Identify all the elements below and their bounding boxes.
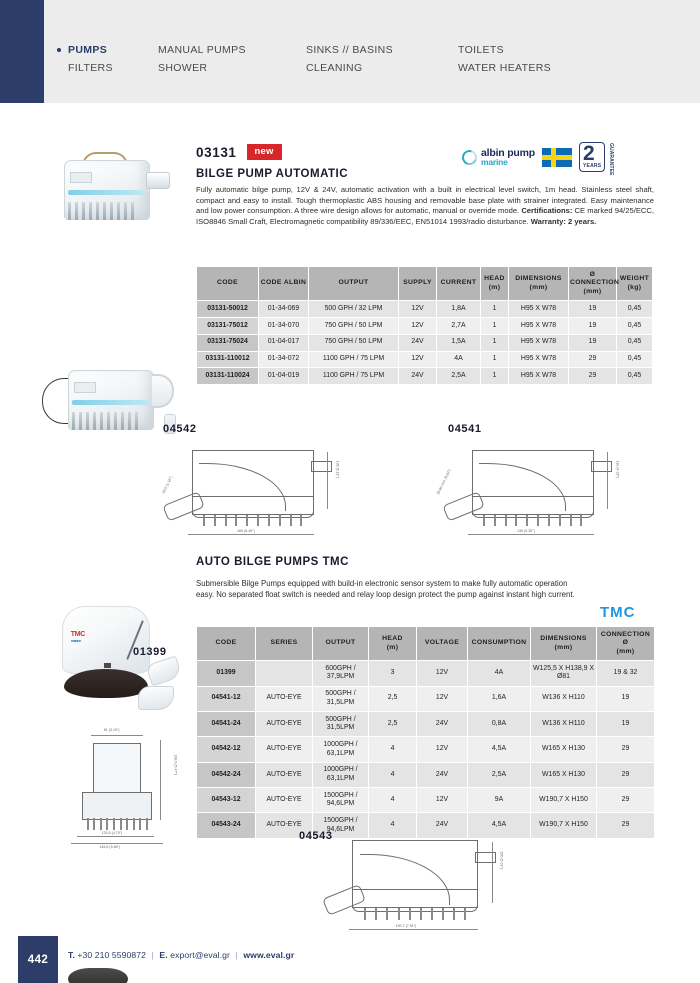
table-row: 03131-50012 01-34-069 500 GPH / 32 LPM 1…: [197, 301, 653, 318]
cell-head: 4: [369, 788, 417, 813]
drawing-width-label: 190,7 (7.51"): [396, 924, 417, 928]
drawing-outlet-spout: [475, 852, 497, 864]
cell-output: 1500GPH / 94,6LPM: [313, 788, 369, 813]
cell-head: 2,5: [369, 711, 417, 736]
nav-item-label: WATER HEATERS: [458, 62, 551, 74]
certifications-label: Certifications:: [521, 206, 572, 215]
col-head: HEAD(m): [369, 627, 417, 661]
cell-series: AUTO-EYE: [256, 711, 313, 736]
drawing-outlet-spout: [591, 461, 612, 472]
cell-supply: 12V: [399, 301, 437, 318]
pump-blue-stripe: [72, 400, 150, 405]
active-bullet-icon: [57, 48, 61, 52]
col-head: HEAD(m): [481, 267, 509, 301]
cell-dimensions: H95 X W78: [509, 334, 569, 351]
cell-dimensions: W190,7 X H150: [531, 788, 597, 813]
albin-logo-line2: marine: [481, 158, 535, 166]
col-weight: WEIGHT(kg): [617, 267, 653, 301]
cell-code: 04543-24: [197, 813, 256, 838]
nav-item-sinks-basins[interactable]: SINKS // BASINS: [306, 44, 458, 57]
cell-output: 750 GPH / 50 LPM: [309, 334, 399, 351]
top-navigation-bar: PUMPS FILTERS MANUAL PUMPS SHOWER SINKS …: [0, 0, 700, 103]
cell-output: 1000GPH / 63,1LPM: [313, 737, 369, 762]
table-row: 03131-110012 01-34-072 1100 GPH / 75 LPM…: [197, 351, 653, 368]
sweden-flag-icon: [542, 148, 572, 167]
cell-voltage: 12V: [417, 661, 468, 686]
cell-head: 4: [369, 762, 417, 787]
col-dimensions: DIMENSIONS(mm): [531, 627, 597, 661]
cell-code: 04543-12: [197, 788, 256, 813]
cell-voltage: 24V: [417, 711, 468, 736]
cell-series: AUTO-EYE: [256, 762, 313, 787]
nav-item-label: SINKS // BASINS: [306, 44, 393, 56]
guarantee-side-text-wrap: GUARANTEE: [606, 142, 616, 172]
cell-current: 1,8A: [437, 301, 481, 318]
cell-supply: 24V: [399, 334, 437, 351]
nav-column-2: MANUAL PUMPS SHOWER: [158, 44, 306, 84]
phone-label: T.: [68, 950, 75, 960]
cell-code: 04542-12: [197, 737, 256, 762]
drawing-width-dimension-line: [188, 534, 314, 535]
product-description: Fully automatic bilge pump, 12V & 24V, a…: [196, 185, 654, 227]
drawing-inlet-label: 20,95 mm (0.82"): [436, 468, 452, 495]
cell-connection: 29: [597, 737, 655, 762]
pump-elbow-fitting: [152, 374, 174, 408]
email-label: E.: [159, 950, 167, 960]
drawing-width-label: 125,5 (4.75"): [102, 831, 123, 835]
pump-label: [70, 172, 92, 183]
drawing-width-dimension-line: [349, 929, 479, 930]
cell-code: 03131-50012: [197, 301, 259, 318]
cell-head: 4: [369, 737, 417, 762]
cell-output: 600GPH / 37,9LPM: [313, 661, 369, 686]
drawing-top-label: 81 (3.19"): [104, 728, 120, 732]
cell-output: 500GPH / 31,5LPM: [313, 711, 369, 736]
table-row: 03131-75024 01-04-017 750 GPH / 50 LPM 2…: [197, 334, 653, 351]
drawing-height-label: 110 (4.33"): [615, 461, 619, 478]
cell-connection: 29: [569, 368, 617, 385]
cell-dimensions: W165 X H130: [531, 762, 597, 787]
drawing-width-dimension-line: [468, 534, 594, 535]
cell-series: AUTO-EYE: [256, 686, 313, 711]
website-url[interactable]: www.eval.gr: [243, 950, 294, 960]
nav-item-label: TOILETS: [458, 44, 504, 56]
cell-head: 1: [481, 301, 509, 318]
footer-separator: |: [233, 950, 241, 960]
albin-ring-icon: [459, 147, 479, 167]
pump-base: [64, 669, 148, 698]
page-number-badge: 442: [18, 936, 58, 983]
cell-head: 1: [481, 368, 509, 385]
table-header-row: CODE CODE ALBIN OUTPUT SUPPLY CURRENT HE…: [197, 267, 653, 301]
cell-connection: 19: [597, 686, 655, 711]
cell-series: [256, 661, 313, 686]
cell-dimensions: H95 X W78: [509, 301, 569, 318]
table-row: 04541-24 AUTO-EYE 500GPH / 31,5LPM 2,5 2…: [197, 711, 655, 736]
phone-number: +30 210 5590872: [77, 950, 146, 960]
nav-item-shower[interactable]: SHOWER: [158, 62, 306, 75]
nav-item-water-heaters[interactable]: WATER HEATERS: [458, 62, 628, 75]
section-tmc-title: AUTO BILGE PUMPS TMC: [196, 556, 349, 568]
cell-head: 2,5: [369, 686, 417, 711]
product-label-04542: 04542: [163, 423, 197, 435]
drawing-height-dimension-line: [160, 740, 161, 820]
cell-connection: 19: [569, 318, 617, 335]
col-code: CODE: [197, 627, 256, 661]
col-code-albin: CODE ALBIN: [259, 267, 309, 301]
cell-weight: 0,45: [617, 351, 653, 368]
cell-code-albin: 01-34-069: [259, 301, 309, 318]
drawing-top-dimension-line: [91, 735, 144, 736]
spec-table-03131: CODE CODE ALBIN OUTPUT SUPPLY CURRENT HE…: [196, 266, 653, 385]
technical-drawing-04543: 190,7 (7.51") 150 (5.91"): [320, 832, 500, 930]
new-badge: new: [247, 144, 282, 160]
drawing-height-dimension-line: [492, 842, 493, 903]
cell-consumption: 2,5A: [468, 762, 531, 787]
flag-horizontal-bar: [542, 155, 572, 160]
nav-column-3: SINKS // BASINS CLEANING: [306, 44, 458, 84]
cell-code: 04542-24: [197, 762, 256, 787]
nav-item-label: SHOWER: [158, 62, 207, 74]
nav-column-1: PUMPS FILTERS: [68, 44, 158, 84]
catalog-page: PUMPS FILTERS MANUAL PUMPS SHOWER SINKS …: [0, 0, 700, 983]
nav-item-label: MANUAL PUMPS: [158, 44, 246, 56]
cell-voltage: 12V: [417, 788, 468, 813]
page-footer: 442 T. +30 210 5590872 | E. export@eval.…: [0, 936, 700, 983]
cell-connection: 29: [569, 351, 617, 368]
cell-current: 2,5A: [437, 368, 481, 385]
guarantee-side-label: GUARANTEE: [608, 143, 614, 176]
col-supply: SUPPLY: [399, 267, 437, 301]
cell-dimensions: W165 X H130: [531, 737, 597, 762]
albin-pump-marine-logo: albin pump marine: [462, 148, 535, 166]
table-row: 04543-12 AUTO-EYE 1500GPH / 94,6LPM 4 12…: [197, 788, 655, 813]
nav-item-label: CLEANING: [306, 62, 362, 74]
nav-column-group: PUMPS FILTERS MANUAL PUMPS SHOWER SINKS …: [68, 44, 668, 84]
pump-sensor-chip: [104, 663, 111, 668]
cell-head: 1: [481, 334, 509, 351]
nav-item-label: PUMPS: [68, 44, 107, 56]
pump-outlet-port: [146, 172, 170, 189]
cell-weight: 0,45: [617, 301, 653, 318]
drawing-lower-body: [82, 792, 152, 820]
cell-code-albin: 01-34-072: [259, 351, 309, 368]
cell-consumption: 4A: [468, 661, 531, 686]
brand-logo-bar: albin pump marine 2 YEARS GUARANTEE: [462, 142, 617, 172]
cell-code: 01399: [197, 661, 256, 686]
cell-code-albin: 01-04-017: [259, 334, 309, 351]
cell-code: 03131-75012: [197, 318, 259, 335]
cell-code: 03131-110024: [197, 368, 259, 385]
cell-code-albin: 01-34-070: [259, 318, 309, 335]
cell-dimensions: W136 X H110: [531, 686, 597, 711]
technical-drawing-04541: 136 (5.35") 110 (4.33") 20,95 mm (0.82"): [440, 443, 615, 535]
table-body: 03131-50012 01-34-069 500 GPH / 32 LPM 1…: [197, 301, 653, 385]
cell-code: 03131-75024: [197, 334, 259, 351]
table-body: 01399 600GPH / 37,9LPM 3 12V 4A W125,5 X…: [197, 661, 655, 839]
guarantee-badge-wrap: 2 YEARS GUARANTEE: [579, 142, 617, 172]
col-connection: CONNECTION Ø(mm): [597, 627, 655, 661]
drawing-height-label: 138,9 (5.47"): [174, 755, 178, 776]
cell-dimensions: H95 X W78: [509, 318, 569, 335]
pump-strainer-vents: [72, 412, 138, 430]
product-code: 03131: [196, 145, 237, 160]
drawing-outlet-spout: [311, 461, 332, 472]
cell-dimensions: H95 X W78: [509, 351, 569, 368]
cell-consumption: 0,8A: [468, 711, 531, 736]
nav-item-filters[interactable]: FILTERS: [68, 62, 158, 75]
drawing-strainer-teeth: [199, 515, 308, 526]
nav-column-4: TOILETS WATER HEATERS: [458, 44, 628, 84]
drawing-height-label: 130 (5.11"): [335, 461, 339, 478]
cell-current: 1,5A: [437, 334, 481, 351]
col-dimensions: DIMENSIONS(mm): [509, 267, 569, 301]
table-row: 01399 600GPH / 37,9LPM 3 12V 4A W125,5 X…: [197, 661, 655, 686]
cell-output: 500GPH / 31,5LPM: [313, 686, 369, 711]
cell-code-albin: 01-04-019: [259, 368, 309, 385]
drawing-strainer-teeth: [84, 818, 150, 830]
hose-fitting-elbow-2: [138, 686, 174, 710]
cell-weight: 0,45: [617, 368, 653, 385]
table-row: 03131-110024 01-04-019 1100 GPH / 75 LPM…: [197, 368, 653, 385]
cell-head: 3: [369, 661, 417, 686]
cell-series: AUTO-EYE: [256, 788, 313, 813]
cell-connection: 19: [597, 711, 655, 736]
cell-connection: 29: [597, 762, 655, 787]
col-output: OUTPUT: [309, 267, 399, 301]
cell-code: 03131-110012: [197, 351, 259, 368]
cell-consumption: 9A: [468, 788, 531, 813]
cell-dimensions: W136 X H110: [531, 711, 597, 736]
cell-voltage: 12V: [417, 737, 468, 762]
nav-item-cleaning[interactable]: CLEANING: [306, 62, 458, 75]
email-address[interactable]: export@eval.gr: [170, 950, 230, 960]
cell-consumption: 1,6A: [468, 686, 531, 711]
cell-dimensions: H95 X W78: [509, 368, 569, 385]
cell-current: 2,7A: [437, 318, 481, 335]
hose-fitting-elbow-1: [145, 656, 182, 687]
table-head: CODE SERIES OUTPUT HEAD(m) VOLTAGE CONSU…: [197, 627, 655, 661]
drawing-height-dimension-line: [327, 452, 328, 509]
cell-weight: 0,45: [617, 318, 653, 335]
footer-contact-line: T. +30 210 5590872 | E. export@eval.gr |…: [68, 950, 294, 960]
cell-supply: 24V: [399, 368, 437, 385]
table-row: 04541-12 AUTO-EYE 500GPH / 31,5LPM 2,5 1…: [197, 686, 655, 711]
cell-connection: 19: [569, 301, 617, 318]
col-current: CURRENT: [437, 267, 481, 301]
cell-supply: 12V: [399, 318, 437, 335]
drawing-strainer-teeth: [360, 908, 472, 920]
section-tmc-description: Submersible Bilge Pumps equipped with bu…: [196, 578, 580, 600]
product-photo-03131-top: [56, 150, 182, 230]
guarantee-years-label: YEARS: [583, 163, 601, 169]
cell-connection: 19: [569, 334, 617, 351]
pump-blue-stripe: [68, 190, 146, 195]
navy-spine-accent: [0, 0, 44, 103]
drawing-base-label: 145,5 (5.86"): [99, 845, 120, 849]
footer-separator: |: [149, 950, 157, 960]
col-output: OUTPUT: [313, 627, 369, 661]
col-code: CODE: [197, 267, 259, 301]
nav-item-toilets[interactable]: TOILETS: [458, 44, 628, 57]
cell-dimensions: W125,5 X H138,9 X Ø81: [531, 661, 597, 686]
tmc-brand-sticker: TMCmarine: [71, 632, 85, 644]
drawing-width-label: 165 (6.49"): [237, 529, 255, 533]
spec-table-tmc: CODE SERIES OUTPUT HEAD(m) VOLTAGE CONSU…: [196, 626, 655, 839]
table-row: 03131-75012 01-34-070 750 GPH / 50 LPM 1…: [197, 318, 653, 335]
cell-voltage: 24V: [417, 762, 468, 787]
cell-output: 750 GPH / 50 LPM: [309, 318, 399, 335]
technical-drawing-01399: 81 (3.19") 138,9 (5.47") 125,5 (4.75") 1…: [62, 726, 172, 844]
cell-connection: 29: [597, 788, 655, 813]
technical-drawing-04542: 165 (6.49") 130 (5.11") 29,5 (1.16"): [160, 443, 335, 535]
cell-voltage: 12V: [417, 686, 468, 711]
product-label-01399: 01399: [133, 646, 167, 658]
cell-output: 1100 GPH / 75 LPM: [309, 351, 399, 368]
col-connection: ØCONNECTION(mm): [569, 267, 617, 301]
col-voltage: VOLTAGE: [417, 627, 468, 661]
drawing-width-dimension-line: [77, 836, 154, 837]
pump-label: [74, 382, 96, 393]
cell-weight: 0,45: [617, 334, 653, 351]
drawing-inlet-label: 29,5 (1.16"): [161, 476, 173, 495]
drawing-base-dimension-line: [71, 843, 163, 844]
cell-head: 1: [481, 351, 509, 368]
cell-head: 1: [481, 318, 509, 335]
guarantee-badge: 2 YEARS: [579, 142, 605, 172]
nav-item-label: FILTERS: [68, 62, 113, 74]
cell-output: 500 GPH / 32 LPM: [309, 301, 399, 318]
nav-item-pumps[interactable]: PUMPS: [68, 44, 158, 57]
nav-item-manual-pumps[interactable]: MANUAL PUMPS: [158, 44, 306, 57]
cell-series: AUTO-EYE: [256, 737, 313, 762]
col-consumption: CONSUMPTION: [468, 627, 531, 661]
cell-code: 04541-12: [197, 686, 256, 711]
cell-output: 1000GPH / 63,1LPM: [313, 762, 369, 787]
product-label-04541: 04541: [448, 423, 482, 435]
warranty-text: Warranty: 2 years.: [531, 217, 597, 226]
table-row: 04542-12 AUTO-EYE 1000GPH / 63,1LPM 4 12…: [197, 737, 655, 762]
table-row: 04542-24 AUTO-EYE 1000GPH / 63,1LPM 4 24…: [197, 762, 655, 787]
albin-wordmark: albin pump marine: [481, 148, 535, 166]
cell-code: 04541-24: [197, 711, 256, 736]
tmc-logo: TMC: [600, 604, 636, 621]
cell-supply: 12V: [399, 351, 437, 368]
col-series: SERIES: [256, 627, 313, 661]
cell-output: 1100 GPH / 75 LPM: [309, 368, 399, 385]
cell-current: 4A: [437, 351, 481, 368]
cell-connection: 19 & 32: [597, 661, 655, 686]
drawing-width-label: 136 (5.35"): [517, 529, 535, 533]
drawing-upper-body: [93, 743, 141, 795]
pump-strainer-vents: [68, 202, 134, 220]
cell-consumption: 4,5A: [468, 737, 531, 762]
table-head: CODE CODE ALBIN OUTPUT SUPPLY CURRENT HE…: [197, 267, 653, 301]
cell-connection: 29: [597, 813, 655, 838]
cell-dimensions: W190,7 X H150: [531, 813, 597, 838]
table-header-row: CODE SERIES OUTPUT HEAD(m) VOLTAGE CONSU…: [197, 627, 655, 661]
drawing-strainer-teeth: [479, 515, 588, 526]
drawing-height-dimension-line: [607, 452, 608, 509]
drawing-height-label: 150 (5.91"): [500, 852, 504, 870]
